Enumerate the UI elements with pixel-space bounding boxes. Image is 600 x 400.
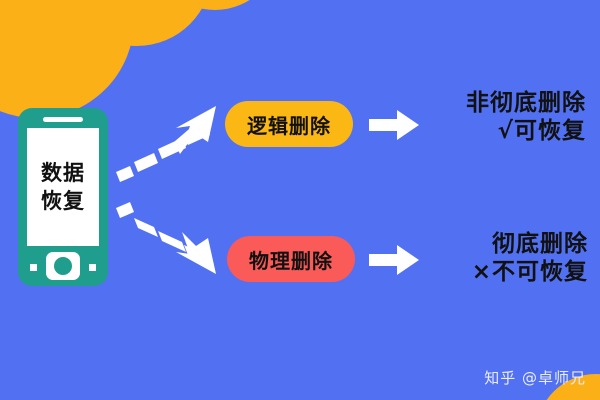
source-label-line2: 恢复 — [41, 189, 85, 213]
phone-speaker-icon — [43, 117, 83, 122]
phone-side-square-icon — [30, 264, 37, 271]
watermark: 知乎 @卓师兄 — [484, 367, 586, 388]
result-logical-delete: 非彻底删除 √可恢复 — [426, 89, 586, 145]
result-line-2: ×不可恢复 — [412, 258, 588, 286]
phone-side-square-icon — [89, 264, 96, 271]
result-line-1: 非彻底删除 — [426, 89, 586, 117]
phone-home-button-icon — [46, 252, 80, 280]
phone-node: 数据 恢复 — [18, 108, 108, 286]
infographic-canvas: 数据 恢复 逻辑删除 — [0, 0, 600, 400]
source-label-line1: 数据 — [41, 161, 85, 185]
dashed-arrow-down-icon — [112, 198, 224, 286]
result-line-2: √可恢复 — [426, 117, 586, 145]
phone-screen: 数据 恢复 — [27, 128, 99, 246]
result-line-1: 彻底删除 — [412, 230, 588, 258]
dashed-arrow-up-icon — [112, 98, 224, 186]
pill-logical-delete[interactable]: 逻辑删除 — [225, 101, 353, 147]
pill-physical-delete[interactable]: 物理删除 — [227, 236, 355, 282]
phone-home-dot-icon — [54, 257, 72, 275]
result-physical-delete: 彻底删除 ×不可恢复 — [412, 230, 588, 286]
block-arrow-right-icon — [369, 110, 419, 140]
